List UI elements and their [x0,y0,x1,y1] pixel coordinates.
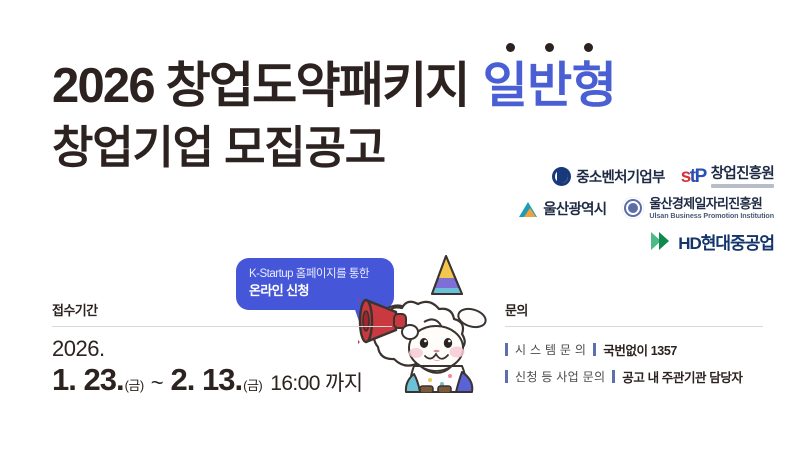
inquiry-row-system: 시 스 템 문 의 국번없이 1357 [505,340,763,359]
logo-hd-hyundai-label: HD현대중공업 [678,229,774,254]
stp-icon-s: s [681,167,690,186]
inquiry-value-business: 공고 내 주관기관 담당자 [622,367,742,386]
ulsan-gear-icon [622,197,644,219]
logo-ministry-sme-label: 중소벤처기업부 [576,166,664,187]
inquiry-label-system: 시 스 템 문 의 [515,341,586,358]
title-main-text: 2026 창업도약패키지 [52,62,469,111]
inquiry-label-business: 신청 등 사업 문의 [515,368,605,385]
hd-chevron-icon [651,232,673,250]
emphasis-dot [506,43,515,52]
logo-ulsan-city: 울산광역시 [518,198,606,219]
poster-root: 2026 창업도약패키지 일반형 창업기업 모집공고 중소벤처기업부 stP [0,0,796,450]
start-day-of-week: (금) [125,375,144,394]
application-period-divider [52,326,392,327]
title-line-2: 창업기업 모집공고 [52,125,752,170]
logo-kised-label: 창업진흥원 [711,166,774,183]
inquiry-section: 문의 시 스 템 문 의 국번없이 1357 신청 등 사업 문의 공고 내 주… [505,300,763,386]
logo-row-2: 울산광역시 울산경제일자리진흥원 Ulsan Business Promotio… [518,197,774,220]
logo-row-3: HD현대중공업 [651,229,774,254]
taegeuk-icon [552,167,571,186]
title-emphasis-text: 일반형 [483,62,617,111]
stp-icon: stP [681,167,706,186]
inquiry-bar-icon [593,343,596,356]
logo-ubpi-subtitle: Ulsan Business Promotion Institution [649,212,774,220]
inquiry-bar-icon [505,370,508,383]
emphasis-dot [545,43,554,52]
emphasis-dots [483,43,617,52]
start-date: 1. 23. [52,364,124,395]
inquiry-title: 문의 [505,300,763,319]
inquiry-list: 시 스 템 문 의 국번없이 1357 신청 등 사업 문의 공고 내 주관기관… [505,340,763,386]
logo-row-1: 중소벤처기업부 stP 창업진흥원 [552,166,774,188]
inquiry-row-business: 신청 등 사업 문의 공고 내 주관기관 담당자 [505,367,763,386]
logo-ulsan-city-label: 울산광역시 [543,198,606,219]
date-range-tilde: ~ [151,370,164,396]
logo-ministry-sme: 중소벤처기업부 [552,166,664,187]
inquiry-bar-icon [505,343,508,356]
title-emphasis-wrap: 일반형 [483,62,617,111]
deadline-time: 16:00 까지 [270,367,362,397]
logo-hd-hyundai: HD현대중공업 [651,229,774,254]
logo-kised-stack: 창업진흥원 [711,166,774,188]
ulsan-triangle-icon [518,200,538,217]
logo-kised: stP 창업진흥원 [681,166,774,188]
logo-ubpi-stack: 울산경제일자리진흥원 Ulsan Business Promotion Inst… [649,197,774,220]
title-line-1: 2026 창업도약패키지 일반형 [52,62,752,111]
application-period-range: 1. 23. (금) ~ 2. 13. (금) 16:00 까지 [52,364,392,397]
logo-ubpi: 울산경제일자리진흥원 Ulsan Business Promotion Inst… [622,197,774,220]
application-period-year: 2026. [52,338,392,360]
poster-title-block: 2026 창업도약패키지 일반형 창업기업 모집공고 [52,62,752,170]
emphasis-dot [584,43,593,52]
kised-underbar [711,184,774,188]
stp-icon-p: P [695,167,706,186]
inquiry-divider [505,326,763,327]
logo-group: 중소벤처기업부 stP 창업진흥원 울산광역시 [474,166,774,254]
stp-icon-t: t [690,167,695,186]
logo-ubpi-label: 울산경제일자리진흥원 [649,197,774,212]
inquiry-bar-icon [612,370,615,383]
inquiry-value-system: 국번없이 1357 [603,340,677,359]
application-period-title: 접수기간 [52,300,392,319]
application-period-section: 접수기간 2026. 1. 23. (금) ~ 2. 13. (금) 16:00… [52,300,392,397]
end-day-of-week: (금) [243,375,262,394]
end-date: 2. 13. [171,364,243,395]
